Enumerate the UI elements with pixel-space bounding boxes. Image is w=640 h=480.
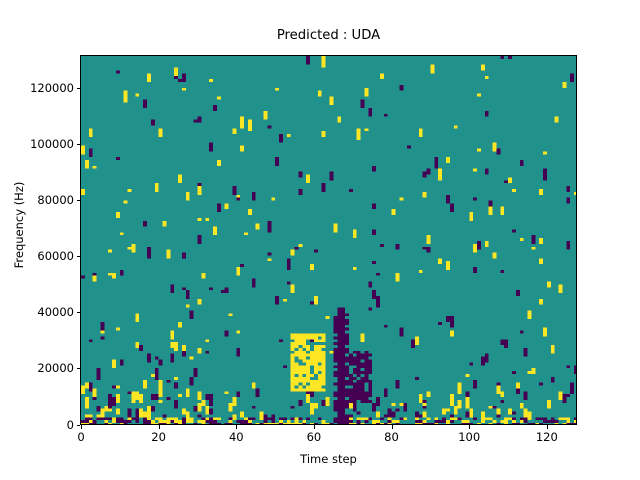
y-tick-label-120000: 120000	[30, 81, 74, 95]
x-axis-label: Time step	[80, 452, 577, 466]
page-title: Predicted : UDA	[80, 28, 577, 44]
y-tick-mark-60000	[77, 256, 81, 257]
x-tick-label-0: 0	[77, 430, 84, 444]
y-tick-label-0: 0	[67, 418, 74, 432]
x-tick-mark-100	[469, 425, 470, 429]
matplotlib-figure: Predicted : UDA 0 20 40 60 80 100 120 0 …	[0, 0, 640, 480]
x-tick-label-80: 80	[384, 430, 399, 444]
x-tick-label-60: 60	[307, 430, 322, 444]
x-tick-mark-20	[159, 425, 160, 429]
y-tick-label-40000: 40000	[37, 305, 74, 319]
y-tick-label-100000: 100000	[30, 137, 74, 151]
y-tick-mark-80000	[77, 200, 81, 201]
y-tick-mark-40000	[77, 312, 81, 313]
x-tick-label-40: 40	[229, 430, 244, 444]
x-tick-mark-40	[236, 425, 237, 429]
y-tick-mark-20000	[77, 368, 81, 369]
heatmap-plot-area	[80, 55, 577, 425]
x-tick-label-20: 20	[151, 430, 166, 444]
x-tick-mark-60	[314, 425, 315, 429]
y-tick-mark-0	[77, 425, 81, 426]
heatmap-image	[81, 56, 577, 425]
x-tick-label-120: 120	[536, 430, 558, 444]
y-tick-label-80000: 80000	[37, 193, 74, 207]
x-tick-label-100: 100	[458, 430, 480, 444]
x-tick-mark-0	[81, 425, 82, 429]
y-tick-mark-120000	[77, 88, 81, 89]
y-axis-label: Frequency (Hz)	[12, 165, 26, 285]
y-tick-label-20000: 20000	[37, 361, 74, 375]
x-tick-mark-80	[392, 425, 393, 429]
y-tick-label-60000: 60000	[37, 249, 74, 263]
y-tick-mark-100000	[77, 144, 81, 145]
x-tick-mark-120	[547, 425, 548, 429]
